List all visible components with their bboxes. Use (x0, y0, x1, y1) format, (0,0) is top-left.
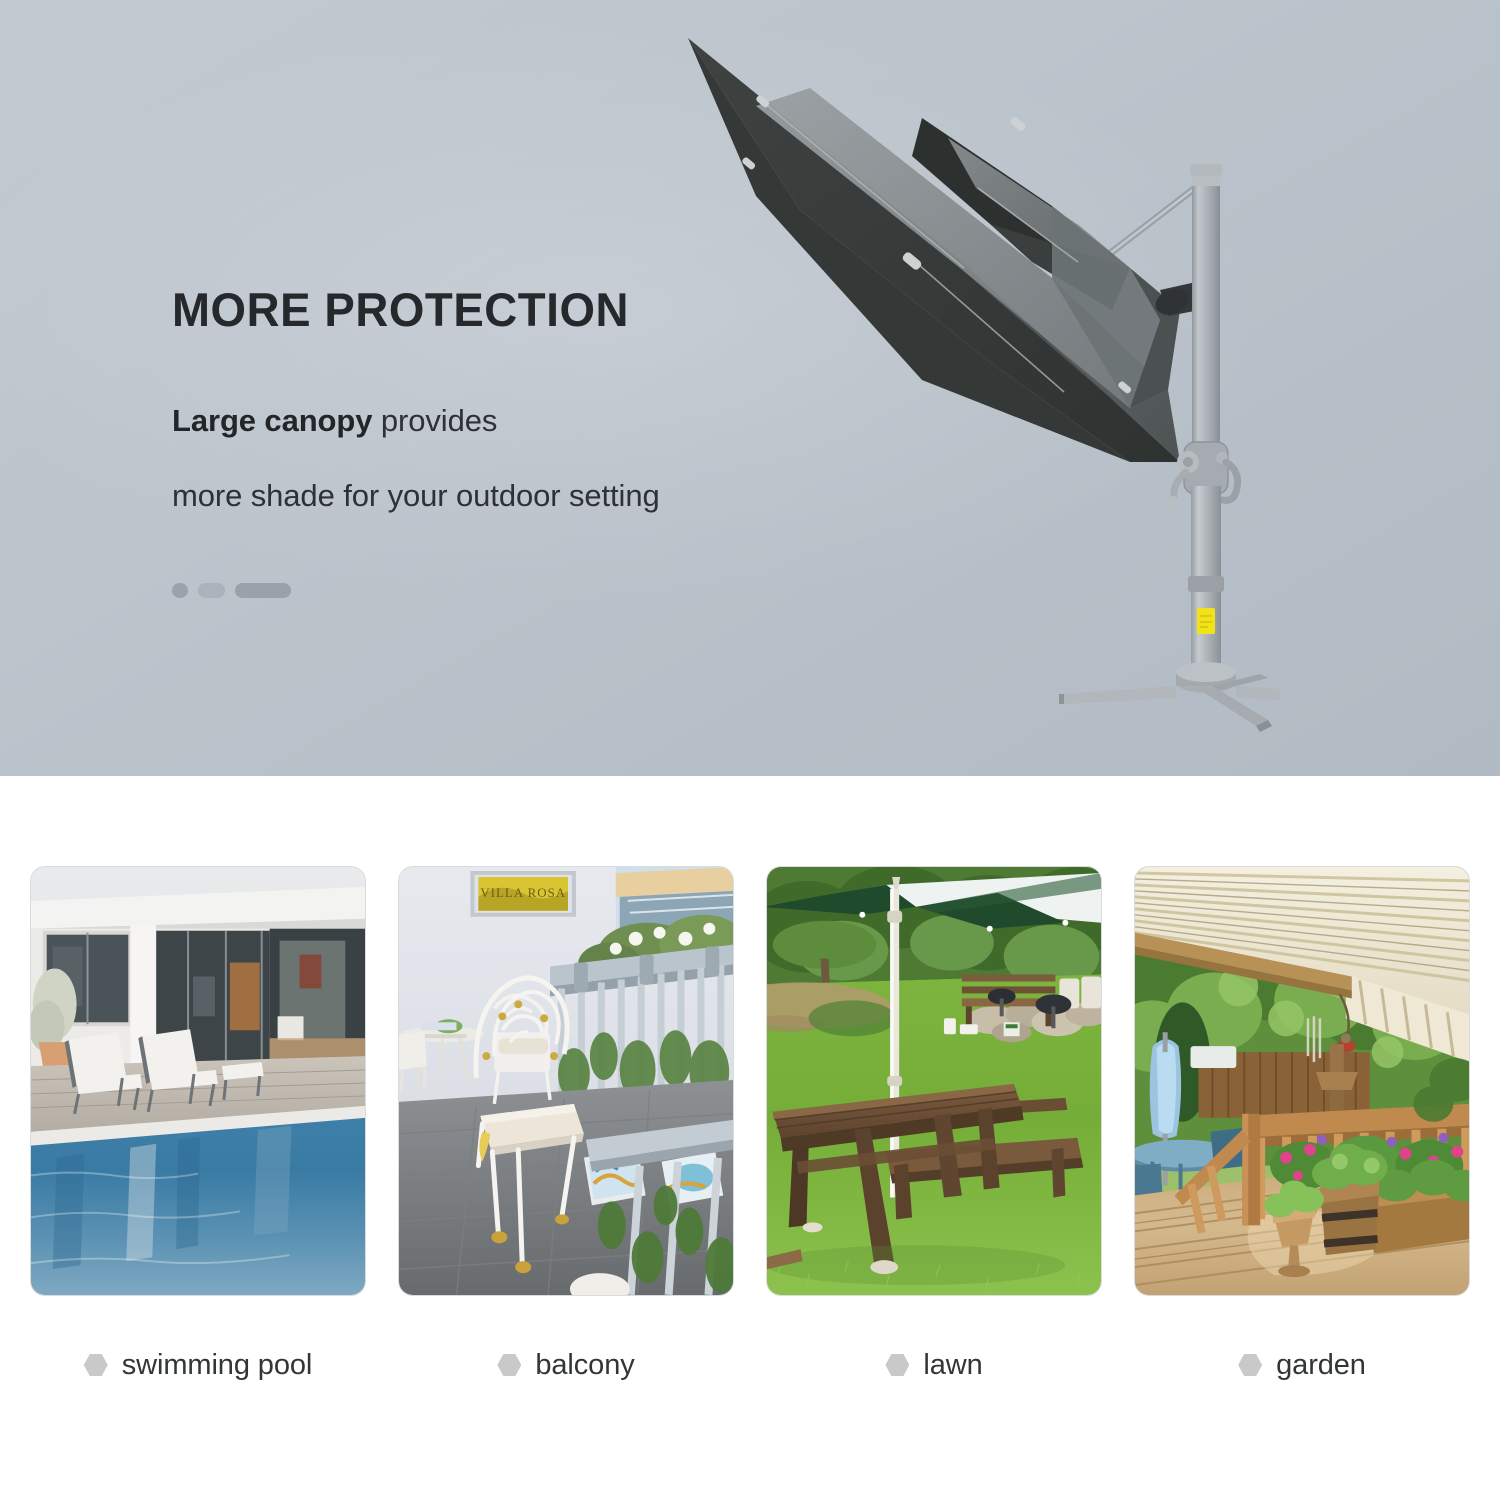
pip-long-icon (235, 583, 291, 598)
hexagon-bullet-icon (84, 1354, 108, 1376)
page-title: MORE PROTECTION (172, 286, 851, 333)
garden-deck-awning-image (1135, 867, 1469, 1295)
poolside-modern-house-image (31, 867, 365, 1295)
hero-panel: MORE PROTECTION Large canopy provides mo… (0, 0, 1500, 776)
caption-label: balcony (535, 1351, 634, 1380)
svg-text:VILLA ROSA: VILLA ROSA (480, 885, 566, 900)
progress-pips (172, 583, 872, 598)
warning-sticker (1197, 608, 1215, 634)
hero-copy: MORE PROTECTION Large canopy provides mo… (172, 286, 872, 598)
caption-balcony: balcony (398, 1330, 734, 1400)
caption-label: lawn (923, 1351, 982, 1380)
scene-thumbnail-garden (1134, 866, 1470, 1296)
hero-body-emphasis: Large canopy (172, 403, 372, 438)
hexagon-bullet-icon (497, 1354, 521, 1376)
scene-thumbnail-lawn (766, 866, 1102, 1296)
hero-body-line-2: more shade for your outdoor setting (172, 480, 872, 511)
hero-body-line-1: Large canopy provides (172, 405, 872, 436)
mediterranean-balcony-image: VILLA ROSA (399, 867, 733, 1295)
caption-label: swimming pool (122, 1351, 313, 1380)
lawn-picnic-table-image (767, 867, 1101, 1295)
caption-swimming-pool: swimming pool (30, 1330, 366, 1400)
scene-thumbnail-swimming-pool (30, 866, 366, 1296)
scene-caption-row: swimming pool balcony lawn garden (30, 1330, 1470, 1400)
scene-thumbnail-row: VILLA ROSA (30, 866, 1470, 1296)
hero-body-rest: provides (372, 403, 497, 438)
caption-garden: garden (1134, 1330, 1470, 1400)
product-feature-page: MORE PROTECTION Large canopy provides mo… (0, 0, 1500, 1500)
scene-thumbnail-balcony: VILLA ROSA (398, 866, 734, 1296)
caption-label: garden (1276, 1351, 1366, 1380)
hexagon-bullet-icon (1238, 1354, 1262, 1376)
pip-medium-icon (198, 583, 225, 598)
caption-lawn: lawn (766, 1330, 1102, 1400)
hexagon-bullet-icon (885, 1354, 909, 1376)
pip-small-icon (172, 583, 188, 598)
